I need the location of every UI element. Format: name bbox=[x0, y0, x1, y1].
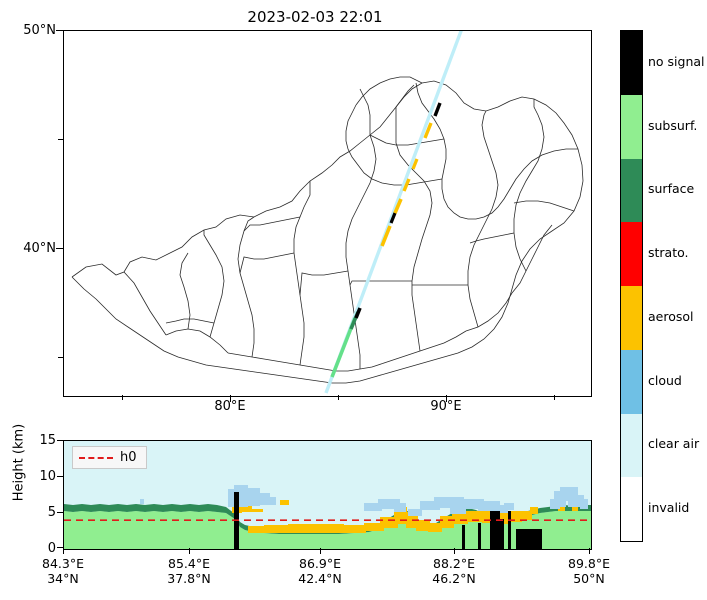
curtain-xtick-3: 88.2°E 46.2°N bbox=[399, 556, 509, 586]
map-ytick-40n: 40°N bbox=[4, 241, 56, 256]
curtain-xtick-4-lon: 89.8°E bbox=[534, 556, 644, 571]
classification-colorbar[interactable] bbox=[620, 30, 643, 542]
map-xtick-mark-95 bbox=[554, 395, 555, 400]
map-panel[interactable] bbox=[63, 30, 592, 397]
map-ytick-50n: 50°N bbox=[4, 23, 56, 38]
map-ytick-mark-45 bbox=[58, 139, 63, 140]
curtain-ytick-10: 10 bbox=[4, 469, 56, 484]
colorbar-label-aerosol: aerosol bbox=[648, 309, 694, 324]
curtain-xtick-3-lat: 46.2°N bbox=[399, 571, 509, 586]
curtain-ytick-mark-15 bbox=[57, 440, 63, 441]
curtain-ytick-5: 5 bbox=[4, 505, 56, 520]
colorbar-swatch-surface[interactable] bbox=[621, 159, 642, 223]
curtain-ytick-mark-10 bbox=[57, 476, 63, 477]
map-xtick-mark-75 bbox=[122, 395, 123, 400]
curtain-ytick-0: 0 bbox=[4, 541, 56, 556]
curtain-xtick-4: 89.8°E 50°N bbox=[534, 556, 644, 586]
map-boundaries bbox=[64, 31, 591, 396]
colorbar-label-clear-air: clear air bbox=[648, 436, 699, 451]
map-xtick-mark-90 bbox=[446, 395, 447, 402]
curtain-xtick-0-lon: 84.3°E bbox=[8, 556, 118, 571]
colorbar-label-subsurf-: subsurf. bbox=[648, 118, 697, 133]
colorbar-swatch-clear-air[interactable] bbox=[621, 414, 642, 478]
colorbar-label-cloud: cloud bbox=[648, 373, 682, 388]
curtain-xtick-mark-3 bbox=[454, 548, 455, 554]
curtain-xtick-0-lat: 34°N bbox=[8, 571, 118, 586]
colorbar-swatch-invalid[interactable] bbox=[621, 477, 642, 541]
colorbar-label-no-signal: no signal bbox=[648, 54, 705, 69]
curtain-xtick-0: 84.3°E 34°N bbox=[8, 556, 118, 586]
colorbar-label-surface: surface bbox=[648, 181, 694, 196]
curtain-ytick-15: 15 bbox=[4, 433, 56, 448]
curtain-ytick-mark-5 bbox=[57, 512, 63, 513]
curtain-legend[interactable]: h0 bbox=[72, 446, 147, 469]
curtain-xtick-mark-1 bbox=[189, 548, 190, 554]
colorbar-swatch-aerosol[interactable] bbox=[621, 286, 642, 350]
curtain-xtick-3-lon: 88.2°E bbox=[399, 556, 509, 571]
map-ytick-mark-50 bbox=[56, 30, 63, 31]
curtain-xtick-mark-2 bbox=[320, 548, 321, 554]
curtain-xtick-2-lat: 42.4°N bbox=[265, 571, 375, 586]
curtain-xtick-2-lon: 86.9°E bbox=[265, 556, 375, 571]
curtain-xtick-mark-4 bbox=[589, 548, 590, 554]
map-xtick-mark-80 bbox=[230, 395, 231, 402]
h0-legend-line bbox=[79, 457, 113, 459]
map-xtick-mark-85 bbox=[338, 395, 339, 400]
curtain-xtick-4-lat: 50°N bbox=[534, 571, 644, 586]
map-ytick-mark-40 bbox=[56, 248, 63, 249]
colorbar-swatch-cloud[interactable] bbox=[621, 350, 642, 414]
h0-legend-label: h0 bbox=[120, 450, 137, 465]
curtain-xtick-1: 85.4°E 37.8°N bbox=[134, 556, 244, 586]
curtain-xtick-2: 86.9°E 42.4°N bbox=[265, 556, 375, 586]
colorbar-swatch-subsurf-[interactable] bbox=[621, 95, 642, 159]
curtain-ylabel: Height (km) bbox=[12, 408, 27, 518]
colorbar-label-invalid: invalid bbox=[648, 500, 689, 515]
colorbar-swatch-no-signal[interactable] bbox=[621, 31, 642, 95]
colorbar-swatch-strato-[interactable] bbox=[621, 222, 642, 286]
colorbar-label-strato-: strato. bbox=[648, 245, 689, 260]
curtain-xtick-mark-0 bbox=[63, 548, 64, 554]
map-ytick-mark-35 bbox=[58, 357, 63, 358]
curtain-xtick-1-lat: 37.8°N bbox=[134, 571, 244, 586]
satellite-ground-track bbox=[326, 31, 464, 393]
page-title: 2023-02-03 22:01 bbox=[0, 8, 630, 26]
curtain-xtick-1-lon: 85.4°E bbox=[134, 556, 244, 571]
